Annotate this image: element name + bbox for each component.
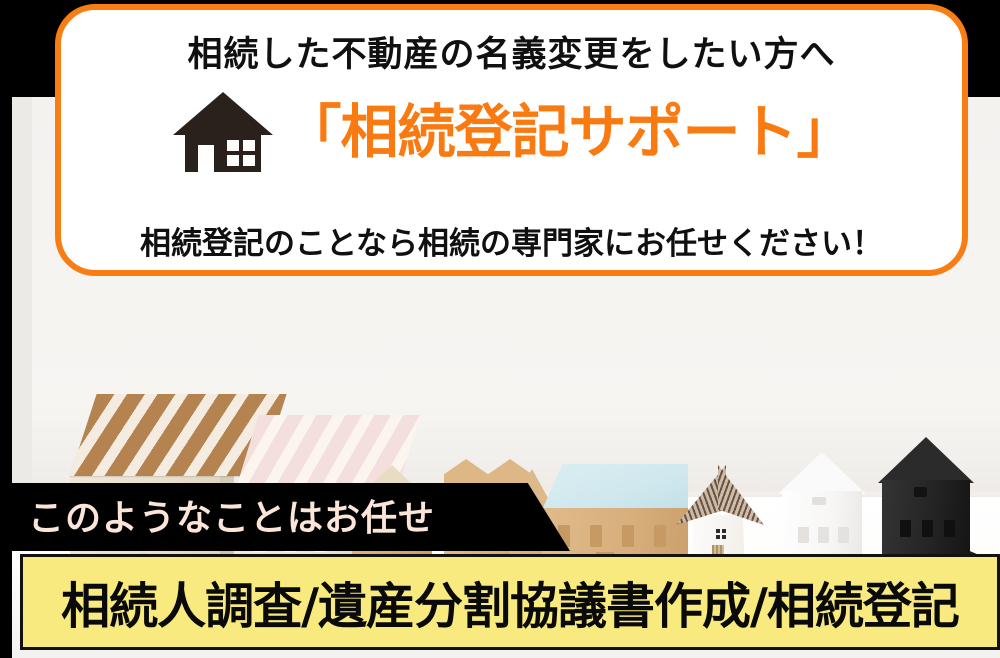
callout-sub-line: 相続登記のことなら相続の専門家にお任せください！ <box>61 218 962 263</box>
house7-attic-window <box>812 497 826 505</box>
callout-headline: 相続した不動産の名義変更をしたい方へ <box>61 26 962 77</box>
house5-roof <box>542 464 688 510</box>
house5-window-2 <box>590 525 602 547</box>
house6-window-dot-3 <box>716 535 720 539</box>
ribbon-label: このようなことはお任せ <box>28 489 435 541</box>
house7-roof <box>778 452 866 494</box>
callout-main-title: 「相続登記サポート」 <box>283 103 853 161</box>
house5-window-4 <box>654 525 666 547</box>
house8-window-3 <box>944 520 955 537</box>
house5-window-3 <box>622 525 634 547</box>
house6-window-dot-4 <box>722 535 726 539</box>
house-icon <box>169 88 277 176</box>
house8-window-1 <box>900 520 911 537</box>
house6-window-dot-2 <box>722 529 726 533</box>
house8-window-2 <box>922 520 933 537</box>
inheritance-registration-banner: 相続した不動産の名義変更をしたい方へ 「相続登記サポート」 相続登記のことなら相… <box>0 0 1000 658</box>
house6-window-dot-1 <box>716 529 720 533</box>
house7-window-1 <box>798 527 809 543</box>
house8-roof <box>878 437 974 483</box>
callout-box: 相続した不動産の名義変更をしたい方へ 「相続登記サポート」 相続登記のことなら相… <box>55 4 968 276</box>
house8-attic-window <box>914 487 927 497</box>
callout-title-row: 「相続登記サポート」 <box>61 88 962 176</box>
house7-window-3 <box>838 527 849 543</box>
yellow-services-label: 相続人調査/遺産分割協議書作成/相続登記 <box>20 554 1000 650</box>
house7-window-2 <box>818 527 829 543</box>
